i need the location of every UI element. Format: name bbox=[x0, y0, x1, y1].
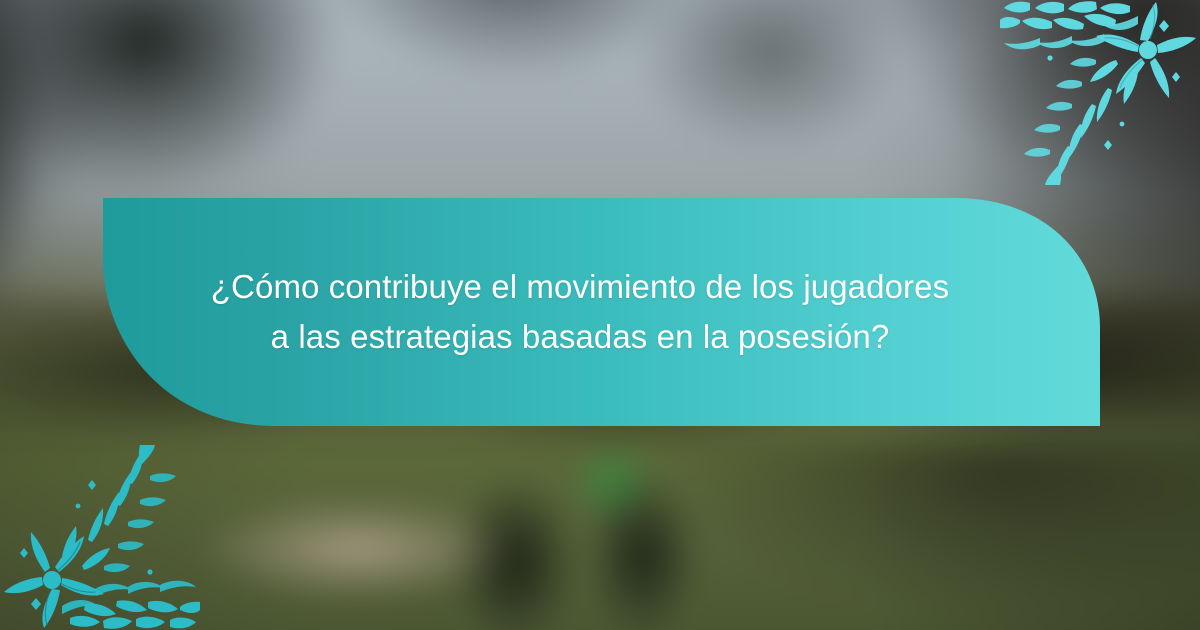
quote-card: ¿Cómo contribuye el movimiento de los ju… bbox=[0, 0, 1200, 630]
headline-line-2: a las estrategias basadas en la posesión… bbox=[271, 312, 890, 362]
headline-text-block: ¿Cómo contribuye el movimiento de los ju… bbox=[0, 198, 1200, 426]
headline-line-1: ¿Cómo contribuye el movimiento de los ju… bbox=[211, 262, 949, 312]
